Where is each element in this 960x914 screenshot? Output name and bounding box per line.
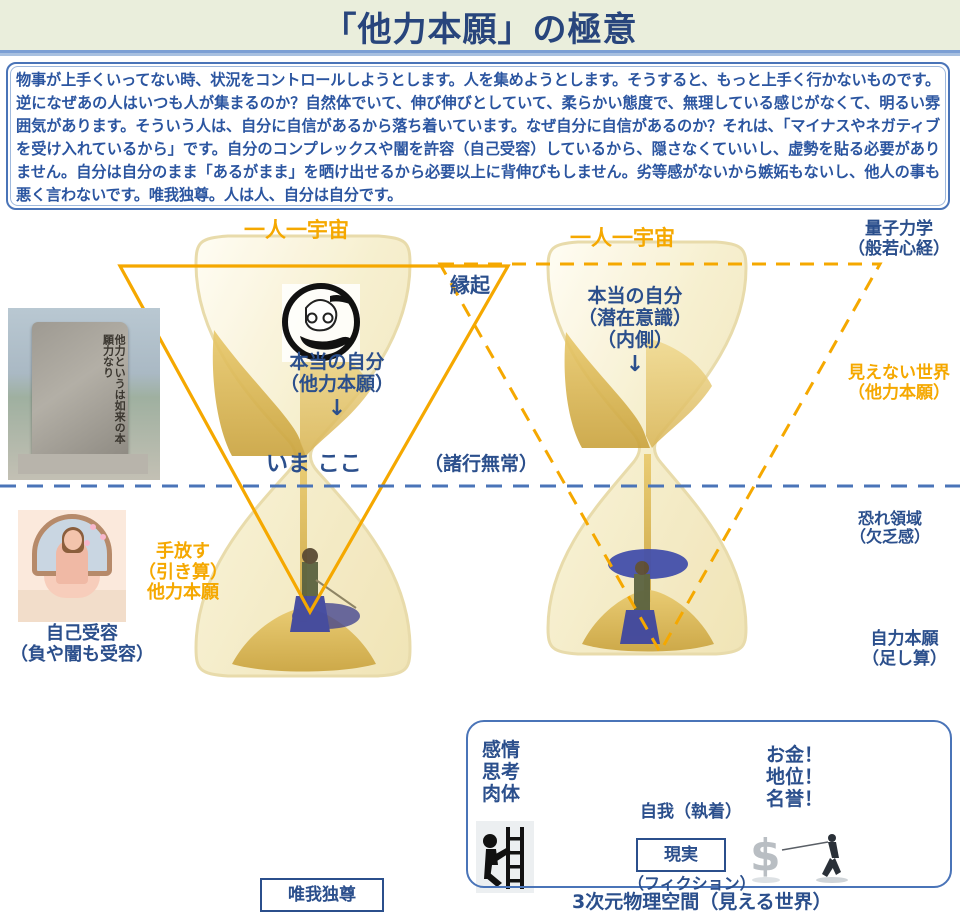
fear-line-1: 恐れ領域 — [850, 510, 930, 528]
body-label: 肉体 — [482, 784, 520, 806]
label-right-one-person-universe: 一人一宇宙 — [570, 226, 675, 250]
money-label: お金！ — [766, 745, 823, 767]
diagram-area: 他力というは如来の本願力なり $ — [0, 212, 960, 720]
release-line-3: 他力本願 — [138, 583, 228, 604]
right-true-self-line-3: （内側） — [578, 330, 692, 352]
jiriki-line-2: （足し算） — [862, 650, 947, 670]
right-true-self-line-1: 本当の自分 — [578, 286, 692, 308]
label-unseen-world: 見えない世界 （他力本願） — [848, 364, 950, 403]
label-ego: 自我（執着） — [640, 803, 742, 823]
label-fear-domain: 恐れ領域 （欠乏感） — [850, 510, 930, 547]
release-line-2: （引き算） — [138, 563, 228, 584]
label-ima-koko: いま ここ — [266, 452, 362, 477]
quantum-line-1: 量子力学 — [848, 220, 950, 240]
intro-text-box: 物事が上手くいってない時、状況をコントロールしようとします。人を集めようとします… — [6, 62, 950, 210]
fear-line-2: （欠乏感） — [850, 528, 930, 546]
label-right-true-self: 本当の自分 （潜在意識） （内側） ↓ — [578, 286, 692, 377]
page-title: 「他力本願」の極意 — [0, 2, 960, 51]
label-money-status-fame: お金！ 地位！ 名誉！ — [766, 745, 823, 811]
meditation-photo — [18, 510, 126, 622]
emotion-label: 感情 — [482, 740, 520, 762]
blossom-icon — [100, 534, 106, 540]
label-self-acceptance: 自己受容 （負や闇も受容） — [10, 624, 154, 665]
left-down-arrow-icon: ↓ — [280, 396, 394, 421]
fame-label: 名誉！ — [766, 789, 823, 811]
release-line-1: 手放す — [138, 542, 228, 563]
label-fiction: （フィクション） — [628, 875, 756, 893]
status-label: 地位！ — [766, 767, 823, 789]
stone-inscription: 他力というは如来の本願力なり — [102, 334, 125, 444]
label-jiriki-hongan: 自力本願 （足し算） — [862, 630, 947, 669]
blossom-icon — [90, 524, 96, 530]
thought-label: 思考 — [482, 762, 520, 784]
label-left-one-person-universe: 一人一宇宙 — [244, 218, 349, 242]
label-left-true-self: 本当の自分 （他力本願） ↓ — [280, 352, 394, 421]
right-down-arrow-icon: ↓ — [578, 352, 692, 377]
figure-head — [64, 530, 82, 550]
jiriki-line-1: 自力本願 — [862, 630, 947, 650]
left-true-self-line-1: 本当の自分 — [280, 352, 394, 374]
label-shogyo-mujo: （諸行無常） — [424, 454, 538, 476]
intro-paragraph: 物事が上手くいってない時、状況をコントロールしようとします。人を集めようとします… — [16, 69, 940, 208]
right-true-self-line-2: （潜在意識） — [578, 308, 692, 330]
left-true-self-line-2: （他力本願） — [280, 374, 394, 396]
quantum-line-2: （般若心経） — [848, 240, 950, 260]
reality-box: 現実 — [636, 838, 726, 872]
yuiga-dokuson-box: 唯我独尊 — [260, 878, 384, 912]
reality-label: 現実 — [638, 840, 724, 870]
label-release: 手放す （引き算） 他力本願 — [138, 542, 228, 604]
self-accept-line-2: （負や闇も受容） — [10, 645, 154, 666]
self-accept-line-1: 自己受容 — [10, 624, 154, 645]
stone-base — [18, 454, 148, 474]
label-engi: 縁起 — [450, 274, 490, 297]
unseen-world-line-2: （他力本願） — [848, 384, 950, 404]
label-emotion-thought-body: 感情 思考 肉体 — [482, 740, 520, 806]
label-quantum-mechanics: 量子力学 （般若心経） — [848, 220, 950, 259]
label-physical-space-caption: 3次元物理空間（見える世界） — [572, 892, 832, 914]
unseen-world-line-1: 見えない世界 — [848, 364, 950, 384]
yuiga-dokuson-label: 唯我独尊 — [262, 880, 382, 910]
stone-monument-photo: 他力というは如来の本願力なり — [8, 308, 160, 480]
